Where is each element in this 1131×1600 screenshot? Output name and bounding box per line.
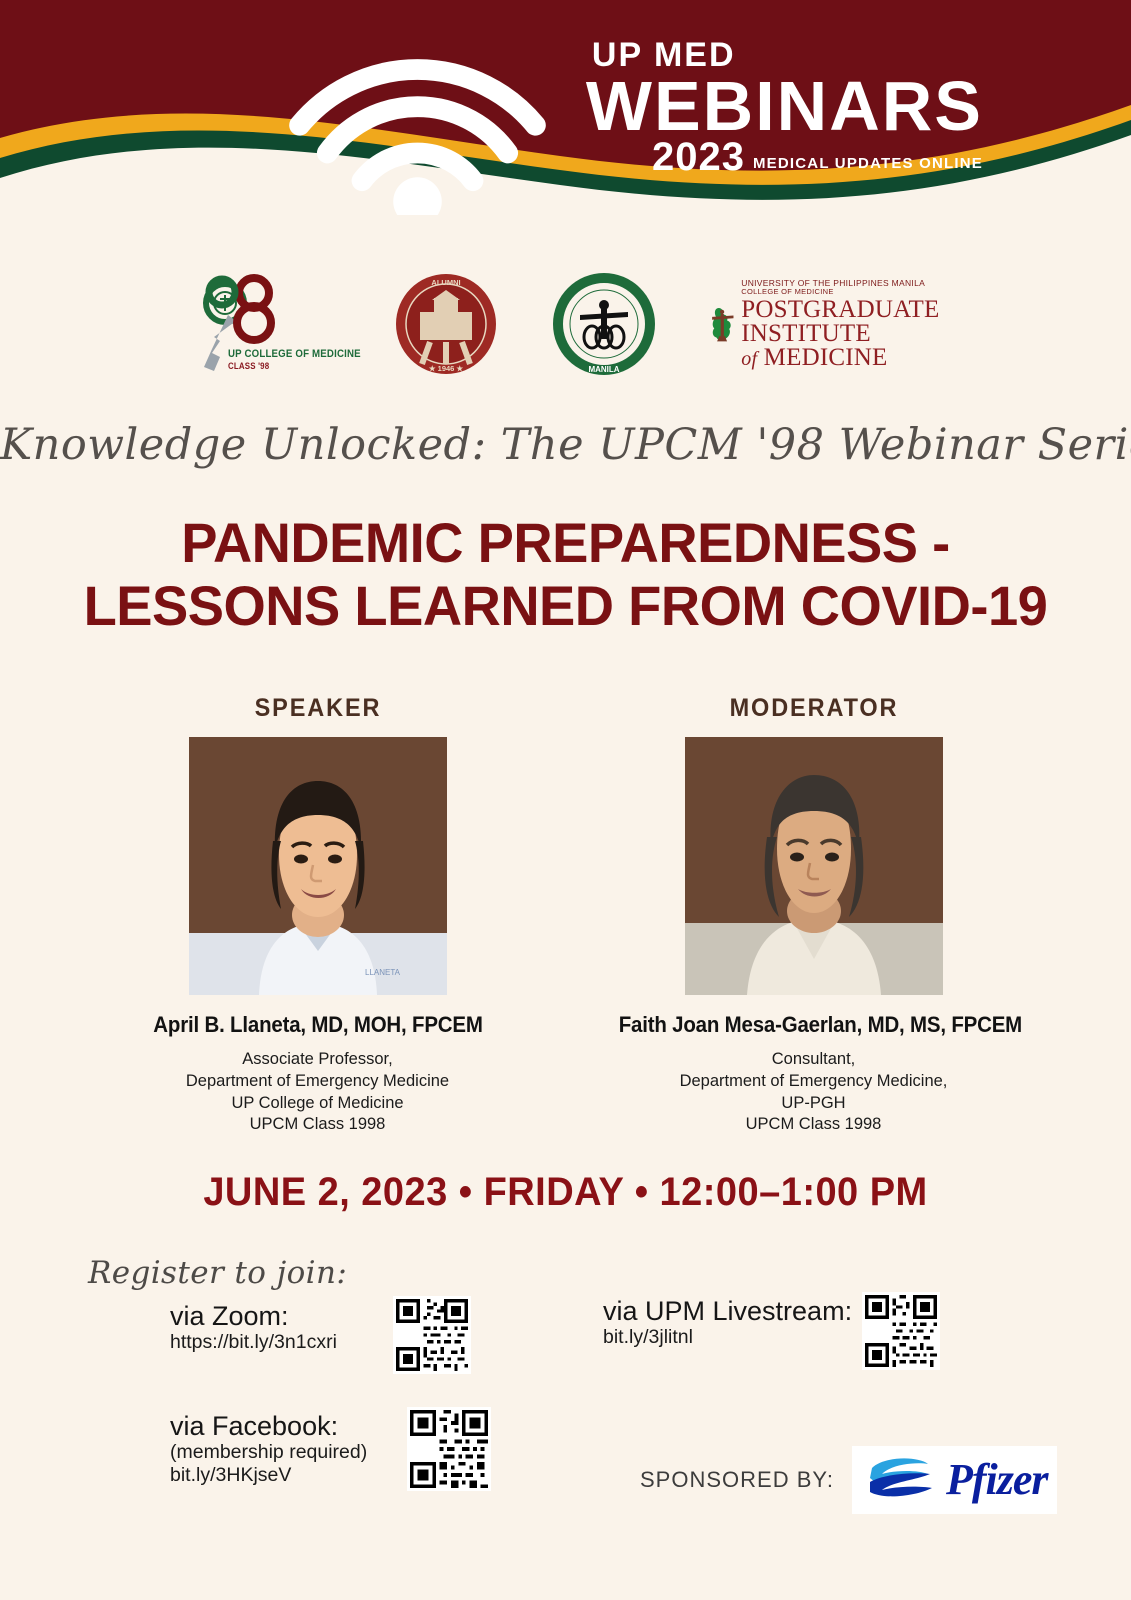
speaker-portrait-graphic: LLANETA: [189, 737, 447, 995]
zoom-url[interactable]: https://bit.ly/3n1cxri: [170, 1331, 337, 1354]
registration-option-facebook[interactable]: via Facebook: (membership required) bit.…: [170, 1412, 491, 1491]
event-date-time: JUNE 2, 2023 • FRIDAY • 12:00–1:00 PM: [28, 1170, 1102, 1215]
broadcast-signal-icon: [0, 42, 983, 215]
pfizer-wordmark: Pfizer: [946, 1458, 1048, 1502]
webinar-poster: UP MED WEBINARS 2023 MEDICAL UPDATES ONL…: [0, 0, 1131, 1600]
role-label-speaker: SPEAKER: [120, 694, 515, 723]
facebook-note: (membership required): [170, 1441, 367, 1464]
facebook-url[interactable]: bit.ly/3HKjseV: [170, 1464, 367, 1487]
zoom-label: via Zoom:: [170, 1302, 337, 1331]
logo-postgraduate-institute-of-medicine: UNIVERSITY OF THE PHILIPPINES MANILA COL…: [710, 274, 940, 374]
pfizer-helix-icon: [862, 1452, 940, 1508]
facebook-label: via Facebook:: [170, 1412, 367, 1441]
sponsor-section: SPONSORED BY: Pfizer: [640, 1446, 1057, 1514]
pgim-of: of: [741, 348, 757, 370]
alumni-society-seal-icon: ALUMNI ★ 1946 ★: [394, 272, 498, 376]
logo-up-medical-alumni-society: ALUMNI ★ 1946 ★: [394, 269, 498, 379]
logo-up-college-of-medicine-class-98: UP COLLEGE OF MEDICINE CLASS '98: [192, 271, 342, 377]
zoom-qr-code[interactable]: [393, 1296, 471, 1374]
pgim-line4: INSTITUTE: [741, 322, 939, 346]
moderator-name: Faith Joan Mesa-Gaerlan, MD, MS, FPCEM: [618, 1012, 1009, 1038]
header-banner: UP MED WEBINARS 2023 MEDICAL UPDATES ONL…: [0, 0, 1131, 215]
speaker-photo: LLANETA: [189, 737, 447, 995]
speaker-name: April B. Llaneta, MD, MOH, FPCEM: [122, 1012, 513, 1038]
pgim-line1: UNIVERSITY OF THE PHILIPPINES MANILA: [741, 279, 939, 288]
livestream-label: via UPM Livestream:: [603, 1297, 852, 1326]
qr-code-icon: [396, 1299, 468, 1371]
pgim-oblation-map-icon: [710, 274, 738, 374]
series-title: Knowledge Unlocked: The UPCM '98 Webinar…: [0, 420, 1131, 470]
main-title-line1: PANDEMIC PREPAREDNESS -: [17, 512, 1114, 575]
livestream-qr-code[interactable]: [862, 1292, 940, 1370]
pgim-line2: COLLEGE OF MEDICINE: [741, 288, 939, 296]
registration-option-livestream[interactable]: via UPM Livestream: bit.ly/3jlitnl: [603, 1297, 940, 1370]
pfizer-logo: Pfizer: [852, 1446, 1058, 1514]
qr-code-icon: [865, 1295, 937, 1367]
moderator-affiliation: Consultant, Department of Emergency Medi…: [604, 1049, 1024, 1136]
moderator-portrait-graphic: [685, 737, 943, 995]
logo-up-manila-seal: MANILA: [550, 269, 658, 379]
role-label-moderator: MODERATOR: [616, 694, 1011, 723]
svg-text:★ 1946 ★: ★ 1946 ★: [428, 364, 464, 373]
logo-c98-line2: CLASS '98: [228, 361, 361, 371]
sponsored-by-label: SPONSORED BY:: [640, 1467, 834, 1493]
pgim-line5: MEDICINE: [764, 344, 888, 371]
presenter-moderator: MODERATOR: [604, 694, 1024, 1136]
speaker-affiliation: Associate Professor, Department of Emerg…: [108, 1049, 528, 1136]
presenter-speaker: SPEAKER: [108, 694, 528, 1136]
livestream-url[interactable]: bit.ly/3jlitnl: [603, 1326, 852, 1349]
logo-c98-line1: UP COLLEGE OF MEDICINE: [228, 348, 361, 361]
registration-option-zoom[interactable]: via Zoom: https://bit.ly/3n1cxri: [170, 1302, 471, 1374]
svg-text:ALUMNI: ALUMNI: [431, 278, 460, 287]
organizer-logos: UP COLLEGE OF MEDICINE CLASS '98 ALUMNI …: [0, 268, 1131, 380]
presenters-section: SPEAKER: [0, 694, 1131, 1136]
pgim-line3: POSTGRADUATE: [741, 298, 939, 322]
register-heading: Register to join:: [88, 1255, 347, 1291]
main-title-line2: LESSONS LEARNED FROM COVID-19: [17, 575, 1114, 638]
moderator-photo: [685, 737, 943, 995]
svg-text:LLANETA: LLANETA: [365, 968, 401, 977]
page-title: PANDEMIC PREPAREDNESS - LESSONS LEARNED …: [17, 512, 1114, 637]
up-manila-seal-icon: MANILA: [550, 271, 658, 377]
qr-code-icon: [410, 1410, 488, 1488]
svg-text:MANILA: MANILA: [588, 365, 619, 374]
facebook-qr-code[interactable]: [407, 1407, 491, 1491]
